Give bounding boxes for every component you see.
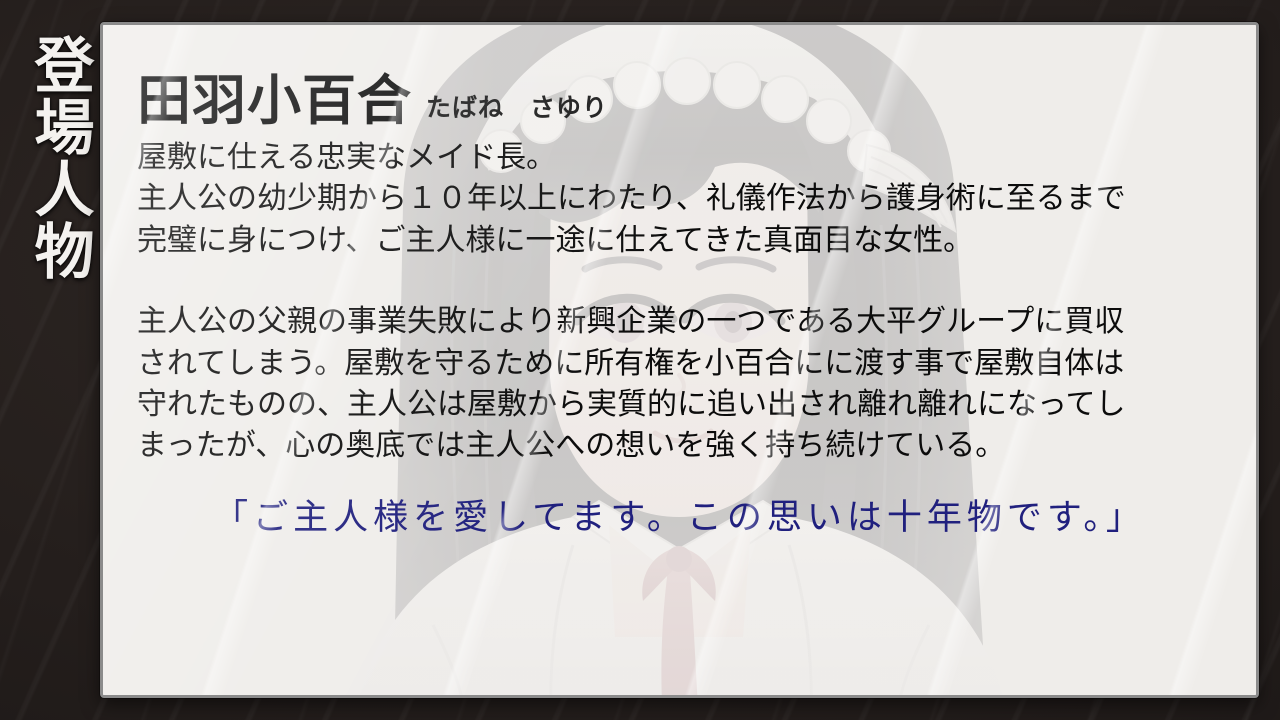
character-description-paragraph-1: 屋敷に仕える忠実なメイド長。 主人公の幼少期から１０年以上にわたり、礼儀作法から…: [137, 137, 1222, 261]
character-panel: 田羽小百合 たばね さゆり 屋敷に仕える忠実なメイド長。 主人公の幼少期から１０…: [100, 22, 1259, 698]
character-text-content: 田羽小百合 たばね さゆり 屋敷に仕える忠実なメイド長。 主人公の幼少期から１０…: [103, 25, 1256, 695]
character-quote: 「ご主人様を愛してます。この思いは十年物です。」: [137, 497, 1222, 539]
character-name-furigana: たばね さゆり: [426, 95, 608, 120]
character-name: 田羽小百合: [137, 73, 412, 127]
character-description-paragraph-2: 主人公の父親の事業失敗により新興企業の一つである大平グループに買収 されてしまう…: [137, 301, 1222, 467]
character-name-row: 田羽小百合 たばね さゆり: [137, 73, 1222, 127]
character-profile-screen: 登場人物: [0, 0, 1280, 720]
section-label-characters: 登場人物: [8, 8, 92, 308]
